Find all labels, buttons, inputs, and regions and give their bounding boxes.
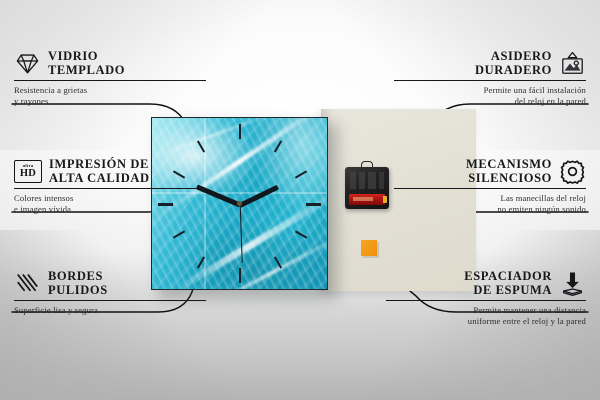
down-arrow-pad-icon	[559, 270, 586, 297]
movement-casing-detail	[350, 172, 384, 189]
feature-description: Resistencia a grietas y rayones	[14, 85, 206, 106]
clock-tick-12	[239, 124, 241, 139]
feature-divider	[14, 188, 206, 189]
feature-title: BORDES PULIDOS	[48, 270, 108, 297]
feature-description: Superficie lisa y segura	[14, 305, 206, 316]
feature-header: ASIDERO DURADERO	[394, 50, 586, 77]
clock-movement	[345, 167, 389, 209]
feature-divider	[394, 188, 586, 189]
feature-title: MECANISMO SILENCIOSO	[466, 158, 552, 185]
feature-divider	[14, 80, 206, 81]
hanging-frame-icon	[559, 50, 586, 77]
battery-label	[353, 197, 373, 201]
feature-header: BORDES PULIDOS	[14, 270, 206, 297]
ultra-hd-icon-main-text: HD	[20, 169, 36, 180]
feature-title: ASIDERO DURADERO	[475, 50, 552, 77]
feature-espaciador-de-espuma: ESPACIADOR DE ESPUMA Permite mantener un…	[386, 270, 586, 327]
clock-tick-6	[239, 268, 241, 283]
feature-bordes-pulidos: BORDES PULIDOS Superficie lisa y segura	[14, 270, 206, 316]
feature-divider	[394, 80, 586, 81]
feature-description: Las manecillas del reloj no emiten ningú…	[394, 193, 586, 214]
ultra-hd-icon: ultra HD	[14, 160, 42, 183]
feature-description: Colores intensos e imagen vívida	[14, 193, 206, 214]
diagonal-lines-icon	[14, 270, 41, 297]
feature-divider	[14, 300, 206, 301]
clock-center-hub	[237, 201, 242, 206]
feature-title: ESPACIADOR DE ESPUMA	[464, 270, 552, 297]
feature-title: VIDRIO TEMPLADO	[48, 50, 125, 77]
feature-header: ultra HD IMPRESIÓN DE ALTA CALIDAD	[14, 158, 206, 185]
foam-spacer	[361, 240, 377, 256]
feature-impresion-de-alta-calidad: ultra HD IMPRESIÓN DE ALTA CALIDAD Color…	[14, 158, 206, 215]
diamond-icon	[14, 50, 41, 77]
feature-mecanismo-silencioso: MECANISMO SILENCIOSO Las manecillas del …	[394, 158, 586, 215]
infographic-canvas: VIDRIO TEMPLADO Resistencia a grietas y …	[0, 0, 600, 400]
feature-vidrio-templado: VIDRIO TEMPLADO Resistencia a grietas y …	[14, 50, 206, 107]
feature-divider	[386, 300, 586, 301]
feature-header: ESPACIADOR DE ESPUMA	[386, 270, 586, 297]
feature-header: VIDRIO TEMPLADO	[14, 50, 206, 77]
feature-header: MECANISMO SILENCIOSO	[394, 158, 586, 185]
feature-description: Permite una fácil instalación del reloj …	[394, 85, 586, 106]
battery	[349, 194, 385, 205]
feature-description: Permite mantener una distancia uniforme …	[386, 305, 586, 326]
movement-hanger-icon	[361, 161, 373, 169]
gear-icon	[559, 158, 586, 185]
feature-asidero-duradero: ASIDERO DURADERO Permite una fácil insta…	[394, 50, 586, 107]
clock-tick-3	[306, 203, 321, 206]
feature-title: IMPRESIÓN DE ALTA CALIDAD	[49, 158, 150, 185]
